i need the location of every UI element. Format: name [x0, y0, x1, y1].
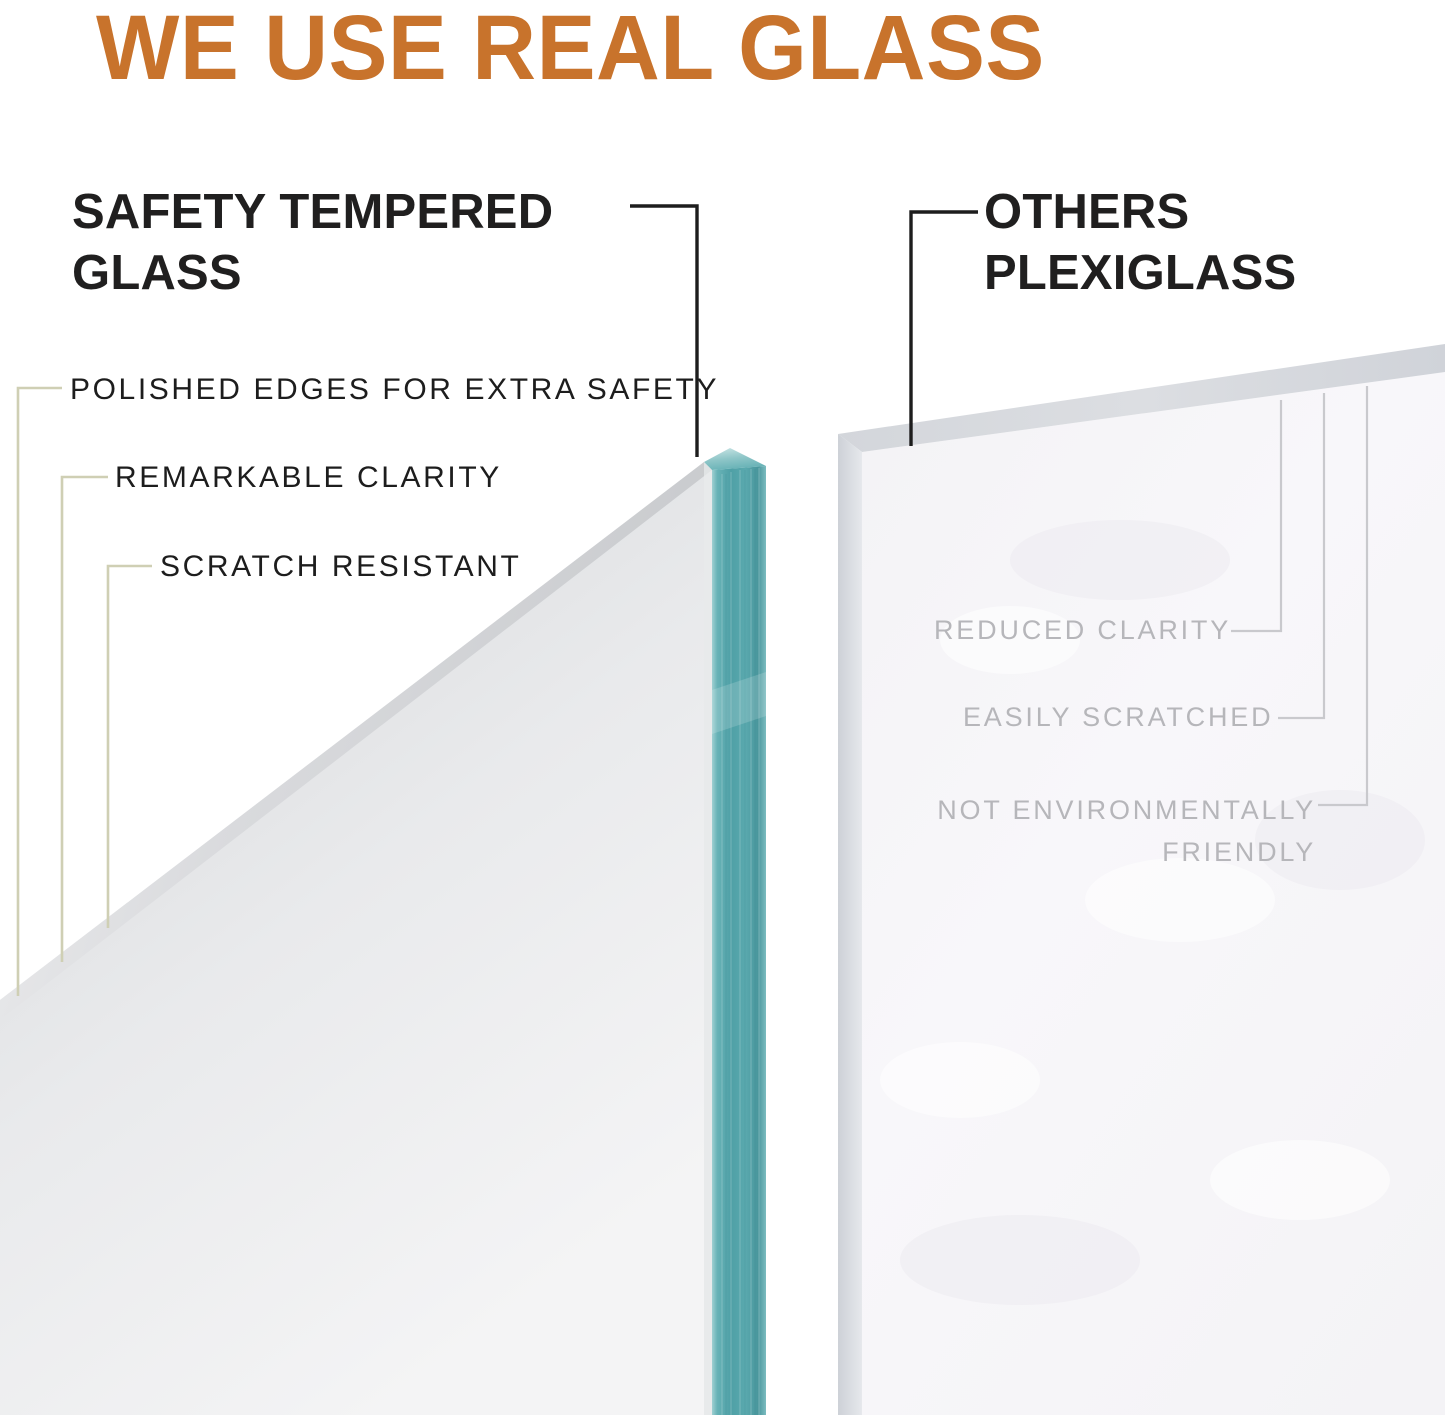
con-feature-reduced-clarity: REDUCED CLARITY: [934, 617, 1231, 644]
plexiglass-panel: [838, 344, 1445, 1415]
con-feature-easily-scratched: EASILY SCRATCHED: [963, 704, 1273, 731]
tempered-glass-title: SAFETY TEMPERED GLASS: [72, 182, 553, 304]
leader-line-tempered-glass: [630, 206, 697, 457]
plexi-left-bevel: [838, 434, 862, 1415]
pro-feature-polished-edges: POLISHED EDGES FOR EXTRA SAFETY: [70, 375, 719, 405]
pro-feature-scratch-resistant: SCRATCH RESISTANT: [160, 552, 521, 582]
tempered-glass-panel: [0, 448, 766, 1415]
glass-polished-edge: [712, 466, 766, 1415]
plexiglass-title: OTHERS PLEXIGLASS: [984, 182, 1296, 304]
leader-line-plexiglass: [911, 212, 978, 446]
con-feature-not-eco-friendly: NOT ENVIRONMENTALLY FRIENDLY: [906, 790, 1316, 874]
glass-face: [0, 462, 704, 1415]
infographic-canvas: WE USE REAL GLASS SAFETY TEMPERED GLASS …: [0, 0, 1445, 1415]
glass-inner-bevel: [704, 462, 712, 1415]
pro-feature-remarkable-clarity: REMARKABLE CLARITY: [115, 463, 502, 493]
page-headline: WE USE REAL GLASS: [96, 2, 1045, 94]
